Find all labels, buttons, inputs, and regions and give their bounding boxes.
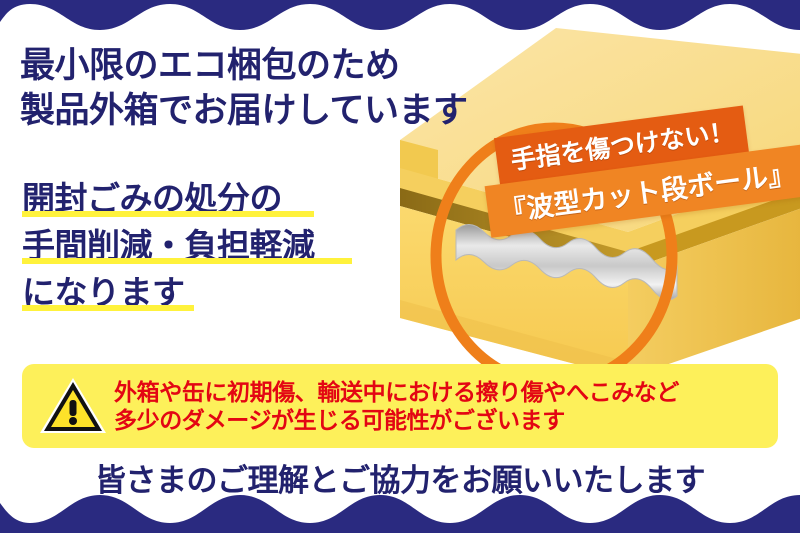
benefit-line-1: 開封ごみの処分の xyxy=(22,182,422,217)
warning-triangle-icon xyxy=(38,375,108,437)
headline-line-2: 製品外箱でお届けしています xyxy=(20,89,560,134)
warning-text: 外箱や缶に初期傷、輸送中における擦り傷やへこみなど 多少のダメージが生じる可能性… xyxy=(114,378,679,434)
warning-line-1: 外箱や缶に初期傷、輸送中における擦り傷やへこみなど xyxy=(114,378,679,406)
benefit-line-2: 手間削減・負担軽減 xyxy=(22,229,422,264)
benefit-line-3: になります xyxy=(22,276,422,311)
bottom-wave-decoration xyxy=(0,477,800,533)
headline-line-1: 最小限のエコ梱包のため xyxy=(20,44,560,89)
headline: 最小限のエコ梱包のため 製品外箱でお届けしています xyxy=(20,44,560,134)
benefit-block: 開封ごみの処分の 手間削減・負担軽減 になります xyxy=(22,182,422,323)
warning-box: 外箱や缶に初期傷、輸送中における擦り傷やへこみなど 多少のダメージが生じる可能性… xyxy=(22,364,778,448)
warning-line-2: 多少のダメージが生じる可能性がございます xyxy=(114,406,679,434)
promo-banner: 最小限のエコ梱包のため 製品外箱でお届けしています 開封ごみの処分の 手間削減・… xyxy=(0,0,800,533)
